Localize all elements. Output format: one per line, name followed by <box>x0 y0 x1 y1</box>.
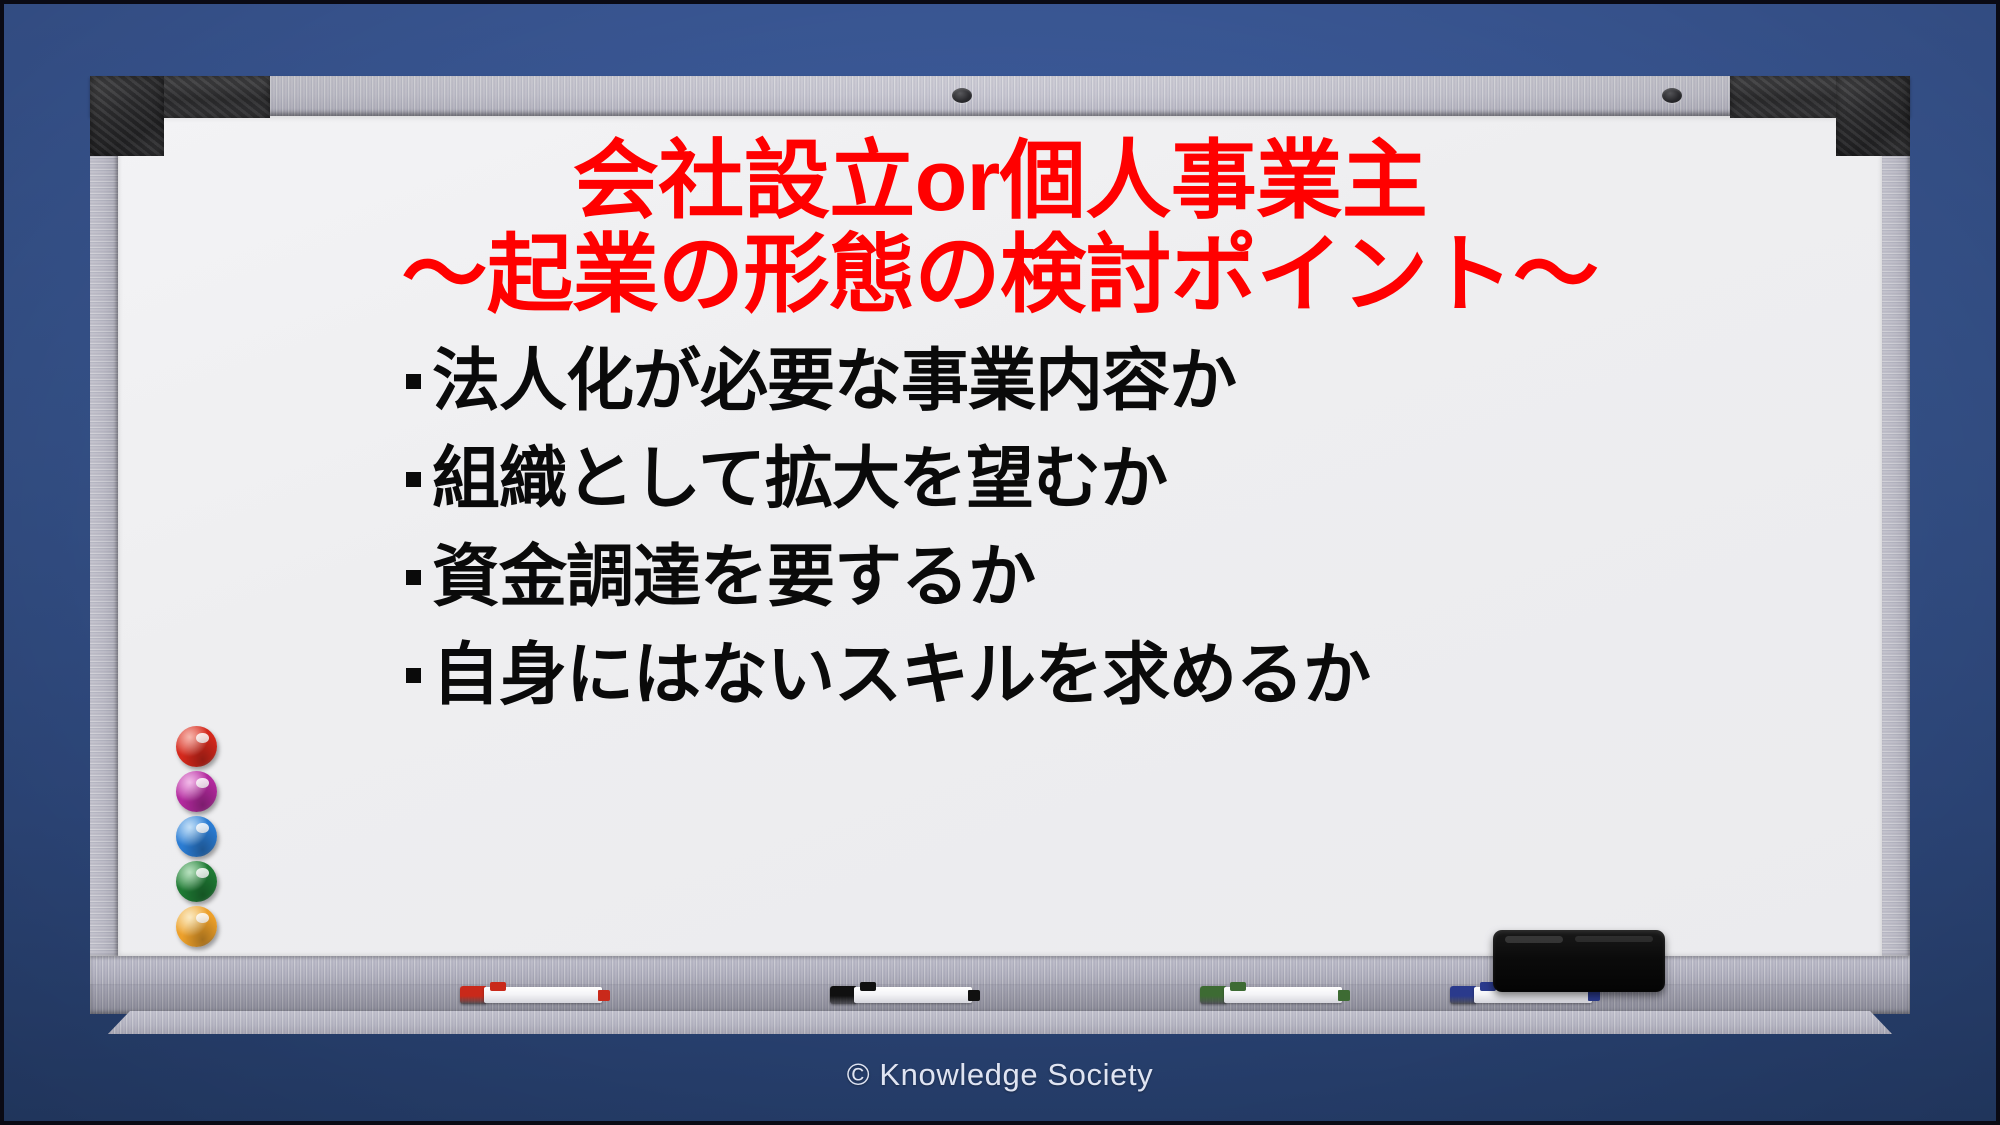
list-item-label: 組織として拡大を望むか <box>432 445 1167 513</box>
magnet-red[interactable] <box>176 726 217 767</box>
marker-cap-icon <box>460 986 486 1004</box>
bullet-square-icon <box>406 570 421 585</box>
bullet-square-icon <box>406 472 421 487</box>
list-item-label: 自身にはないスキルを求めるか <box>432 641 1370 709</box>
whiteboard-frame-right <box>1882 116 1910 956</box>
marker-clip-icon <box>860 982 876 991</box>
marker-cap-icon <box>1200 986 1226 1004</box>
list-item: 自身にはないスキルを求めるか <box>406 641 1882 709</box>
magnet-orange[interactable] <box>176 906 217 947</box>
magnet-magenta[interactable] <box>176 771 217 812</box>
corner-bracket-top-left <box>90 76 164 156</box>
marker-tip-icon <box>598 990 610 1001</box>
slide-title: 会社設立or個人事業主 〜起業の形態の検討ポイント〜 <box>118 138 1882 319</box>
magnet-blue[interactable] <box>176 816 217 857</box>
list-item: 資金調達を要するか <box>406 543 1882 611</box>
magnet-green[interactable] <box>176 861 217 902</box>
slide-title-line-2: 〜起業の形態の検討ポイント〜 <box>118 232 1882 320</box>
slide-title-line-1: 会社設立or個人事業主 <box>118 138 1882 226</box>
corner-bracket-top-right <box>1836 76 1910 156</box>
marker-cap-icon <box>830 986 856 1004</box>
bullet-square-icon <box>406 668 421 683</box>
marker-tip-icon <box>968 990 980 1001</box>
whiteboard-eraser[interactable] <box>1493 930 1665 992</box>
bullet-square-icon <box>406 374 421 389</box>
whiteboard: 会社設立or個人事業主 〜起業の形態の検討ポイント〜 法人化が必要な事業内容か … <box>90 76 1910 1036</box>
tray-front-panel <box>108 1011 1892 1034</box>
copyright-credit: © Knowledge Society <box>4 1057 1996 1093</box>
marker-tray <box>90 956 1910 1036</box>
marker-tip-icon <box>1338 990 1350 1001</box>
list-item-label: 法人化が必要な事業内容か <box>432 347 1236 415</box>
list-item: 組織として拡大を望むか <box>406 445 1882 513</box>
board-content: 会社設立or個人事業主 〜起業の形態の検討ポイント〜 法人化が必要な事業内容か … <box>118 138 1882 739</box>
marker-clip-icon <box>1230 982 1246 991</box>
whiteboard-frame-left <box>90 116 118 956</box>
magnet-strip <box>176 726 236 951</box>
rail-mount-hole-icon <box>952 88 972 103</box>
marker-cap-icon <box>1450 986 1476 1004</box>
whiteboard-top-rail <box>90 76 1910 116</box>
slide-canvas: 会社設立or個人事業主 〜起業の形態の検討ポイント〜 法人化が必要な事業内容か … <box>0 0 2000 1125</box>
marker-clip-icon <box>490 982 506 991</box>
list-item-label: 資金調達を要するか <box>432 543 1035 611</box>
rail-mount-hole-icon <box>1662 88 1682 103</box>
list-item: 法人化が必要な事業内容か <box>406 347 1882 415</box>
bullet-list: 法人化が必要な事業内容か 組織として拡大を望むか 資金調達を要するか 自身にはな… <box>118 347 1882 709</box>
whiteboard-surface: 会社設立or個人事業主 〜起業の形態の検討ポイント〜 法人化が必要な事業内容か … <box>118 116 1882 956</box>
